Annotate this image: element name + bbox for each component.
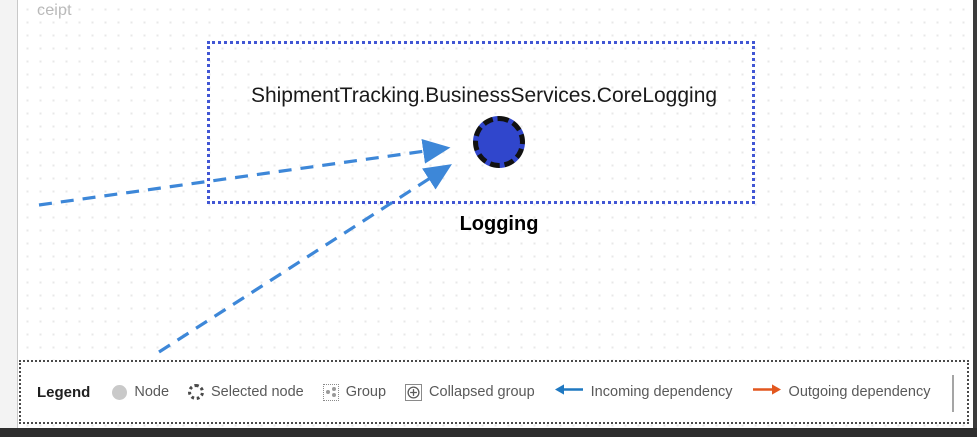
legend-item-group: Group bbox=[323, 384, 386, 401]
group-icon bbox=[323, 384, 339, 401]
legend-label: Incoming dependency bbox=[591, 384, 733, 400]
legend-label: Group bbox=[346, 384, 386, 400]
node-circle-icon bbox=[473, 116, 525, 168]
group-title: ShipmentTracking.BusinessServices.CoreLo… bbox=[210, 84, 758, 108]
left-gutter bbox=[0, 0, 18, 428]
bottom-edge-border bbox=[0, 428, 977, 437]
graph-node-logging[interactable] bbox=[473, 116, 525, 168]
legend-item-node: Node bbox=[112, 384, 169, 400]
legend-label: Selected node bbox=[211, 384, 304, 400]
legend-label: Collapsed group bbox=[429, 384, 535, 400]
dependency-graph-view: ceipt ShipmentTracking.BusinessServices.… bbox=[0, 0, 977, 437]
legend-title: Legend bbox=[37, 384, 90, 401]
node-circle-icon bbox=[112, 385, 127, 400]
node-label: Logging bbox=[414, 213, 584, 236]
legend-panel: Legend Node Selected node Group Collapse… bbox=[19, 360, 969, 424]
legend-label: Outgoing dependency bbox=[789, 384, 931, 400]
collapsed-group-icon bbox=[405, 384, 422, 401]
clipped-group-label: ceipt bbox=[37, 2, 72, 20]
legend-item-outgoing-dependency: Outgoing dependency bbox=[752, 383, 931, 401]
right-edge-border bbox=[973, 0, 977, 428]
legend-item-selected-node: Selected node bbox=[188, 384, 304, 400]
arrow-left-icon bbox=[554, 383, 584, 401]
legend-label: Node bbox=[134, 384, 169, 400]
arrow-right-icon bbox=[752, 383, 782, 401]
legend-item-collapsed-group: Collapsed group bbox=[405, 384, 535, 401]
legend-scrollbar[interactable] bbox=[952, 375, 954, 412]
legend-item-incoming-dependency: Incoming dependency bbox=[554, 383, 733, 401]
selected-node-icon bbox=[188, 384, 204, 400]
